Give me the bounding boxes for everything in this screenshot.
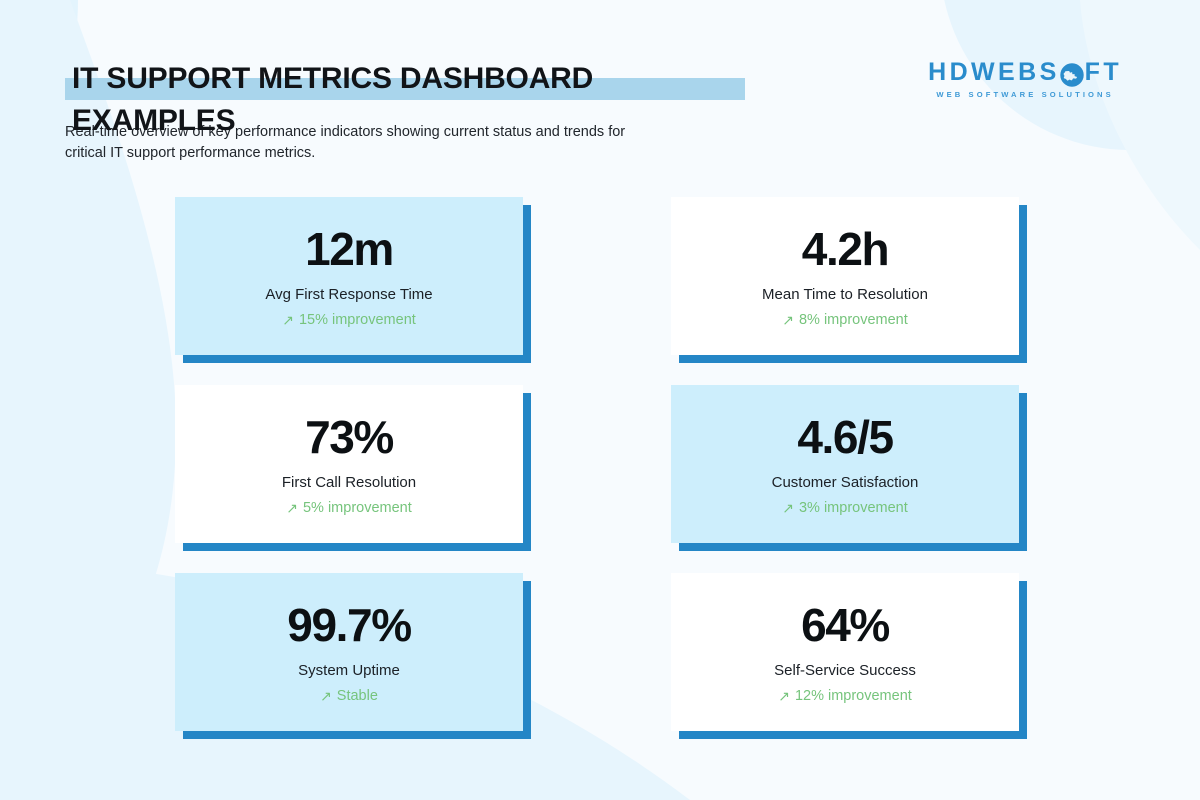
card-body: 99.7% System Uptime ↗ Stable [175,573,523,731]
card-label: First Call Resolution [282,473,416,492]
page-title: IT SUPPORT METRICS DASHBOARD EXAMPLES [64,58,764,142]
card-trend: ↗ 3% improvement [782,499,908,517]
card-label: Mean Time to Resolution [762,285,928,304]
trend-up-arrow-icon: ↗ [282,313,294,327]
logo-word-part2: FT [1085,60,1122,85]
logo-word-part1: HDWEBS [928,60,1060,85]
brand-logo[interactable]: HDWEBS FT WEB SOFTWARE SOLUTIONS [928,60,1122,99]
page-title-wrap: IT SUPPORT METRICS DASHBOARD EXAMPLES [64,58,764,104]
card-trend-text: 3% improvement [799,499,908,517]
card-value: 12m [305,224,393,274]
metric-card-3[interactable]: 4.6/5 Customer Satisfaction ↗ 3% improve… [671,385,1019,543]
card-label: Self-Service Success [774,661,916,680]
card-label: System Uptime [298,661,400,680]
card-label: Customer Satisfaction [772,473,919,492]
metric-card-5[interactable]: 64% Self-Service Success ↗ 12% improveme… [671,573,1019,731]
metric-card-4[interactable]: 99.7% System Uptime ↗ Stable [175,573,523,731]
card-value: 4.6/5 [797,412,892,462]
card-body: 12m Avg First Response Time ↗ 15% improv… [175,197,523,355]
card-body: 4.6/5 Customer Satisfaction ↗ 3% improve… [671,385,1019,543]
logo-tagline: WEB SOFTWARE SOLUTIONS [928,91,1122,99]
card-trend-text: 12% improvement [795,687,912,705]
card-trend-text: 15% improvement [299,311,416,329]
metric-card-2[interactable]: 73% First Call Resolution ↗ 5% improveme… [175,385,523,543]
trend-up-arrow-icon: ↗ [320,689,332,703]
logo-wordmark: HDWEBS FT [928,60,1122,85]
dashboard-page: IT SUPPORT METRICS DASHBOARD EXAMPLES Re… [0,0,1200,800]
card-trend: ↗ 12% improvement [778,687,912,705]
trend-up-arrow-icon: ↗ [286,501,298,515]
card-trend: ↗ 5% improvement [286,499,412,517]
card-value: 99.7% [287,600,410,650]
card-body: 64% Self-Service Success ↗ 12% improveme… [671,573,1019,731]
header: IT SUPPORT METRICS DASHBOARD EXAMPLES Re… [64,58,764,164]
card-trend: ↗ 8% improvement [782,311,908,329]
metric-card-1[interactable]: 4.2h Mean Time to Resolution ↗ 8% improv… [671,197,1019,355]
trend-up-arrow-icon: ↗ [782,313,794,327]
card-body: 73% First Call Resolution ↗ 5% improveme… [175,385,523,543]
metric-card-0[interactable]: 12m Avg First Response Time ↗ 15% improv… [175,197,523,355]
card-label: Avg First Response Time [265,285,432,304]
metric-cards-grid: 12m Avg First Response Time ↗ 15% improv… [175,197,1045,731]
card-value: 64% [801,600,889,650]
card-trend: ↗ Stable [320,687,378,705]
trend-up-arrow-icon: ↗ [778,689,790,703]
globe-icon [1060,63,1084,87]
card-trend-text: Stable [337,687,378,705]
card-trend-text: 5% improvement [303,499,412,517]
card-value: 73% [305,412,393,462]
card-value: 4.2h [802,224,888,274]
card-trend-text: 8% improvement [799,311,908,329]
card-trend: ↗ 15% improvement [282,311,416,329]
card-body: 4.2h Mean Time to Resolution ↗ 8% improv… [671,197,1019,355]
trend-up-arrow-icon: ↗ [782,501,794,515]
